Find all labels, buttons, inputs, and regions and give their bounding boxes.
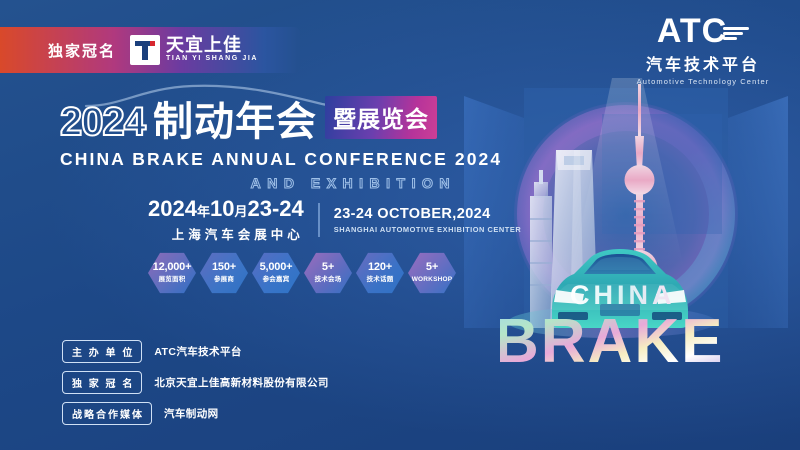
- title-block: 2024 制动年会 暨展览会 CHINA BRAKE ANNUAL CONFER…: [60, 96, 460, 191]
- credit-row: 战略合作媒体 汽车制动网: [62, 402, 329, 425]
- headline-brake: BRAKE: [500, 307, 724, 376]
- credit-row: 主 办 单 位 ATC汽车技术平台: [62, 340, 329, 363]
- date-cn-days: 23-24: [247, 196, 303, 221]
- sponsor-bar: 独家冠名 天宜上佳 TIAN YI SHANG JIA: [0, 27, 300, 73]
- credit-value: 汽车制动网: [164, 406, 219, 421]
- stat-value: 150+: [212, 262, 236, 274]
- title-english-line1: CHINA BRAKE ANNUAL CONFERENCE 2024: [60, 149, 460, 170]
- credit-value: ATC汽车技术平台: [154, 344, 241, 359]
- atc-logo: ATC 汽车技术平台 Automotive Technology Center: [628, 14, 778, 86]
- stat-value: 12,000+: [153, 262, 192, 274]
- tianyishangjia-name-cn: 天宜上佳: [166, 36, 258, 55]
- credit-tag: 独 家 冠 名: [62, 371, 142, 394]
- stat-value: 120+: [368, 262, 392, 274]
- stat-badge: 5+ 技术会场: [304, 252, 352, 294]
- stat-badge: 120+ 技术话题: [356, 252, 404, 294]
- headline-china: CHINA: [570, 282, 676, 310]
- stat-badge: 5+ WORKSHOP: [408, 252, 456, 294]
- stat-badge: 12,000+ 展览面积: [148, 252, 196, 294]
- date-divider: [318, 203, 320, 237]
- stats-row: 12,000+ 展览面积 150+ 参展商 5,000+ 参会嘉宾 5+ 技术会…: [148, 252, 456, 294]
- title-english-line2: AND EXHIBITION: [60, 175, 460, 191]
- venue-cn: 上海汽车会展中心: [148, 224, 304, 243]
- date-cn-month: 10: [210, 196, 234, 221]
- stat-badge: 150+ 参展商: [200, 252, 248, 294]
- credit-row: 独 家 冠 名 北京天宜上佳高新材料股份有限公司: [62, 371, 329, 394]
- stat-label: 技术话题: [367, 276, 394, 284]
- stat-badge: 5,000+ 参会嘉宾: [252, 252, 300, 294]
- stat-label: WORKSHOP: [412, 276, 453, 284]
- title-chinese: 制动年会: [153, 103, 317, 141]
- atc-swoosh-icon: [723, 27, 749, 40]
- credit-tag: 主 办 单 位: [62, 340, 142, 363]
- date-venue-block: 2024年10月23-24 上海汽车会展中心 23-24 OCTOBER,202…: [148, 197, 521, 243]
- tianyishangjia-name-en: TIAN YI SHANG JIA: [166, 55, 258, 63]
- credit-value: 北京天宜上佳高新材料股份有限公司: [154, 375, 328, 390]
- date-venue-cn: 2024年10月23-24 上海汽车会展中心: [148, 197, 304, 243]
- stat-value: 5+: [426, 262, 438, 274]
- atc-wordmark: ATC: [657, 14, 727, 48]
- atc-name-en: Automotive Technology Center: [637, 77, 770, 86]
- credits-block: 主 办 单 位 ATC汽车技术平台 独 家 冠 名 北京天宜上佳高新材料股份有限…: [62, 340, 329, 425]
- stat-value: 5+: [322, 262, 334, 274]
- stat-label: 参会嘉宾: [263, 276, 290, 284]
- event-poster: CHINA BRAKE 独家冠名 天宜上佳 TIAN YI SHANG JIA …: [0, 0, 800, 450]
- date-cn-month-unit: 月: [234, 204, 247, 219]
- stat-label: 参展商: [214, 276, 234, 284]
- atc-name-cn: 汽车技术平台: [646, 51, 760, 75]
- title-exhibition-badge: 暨展览会: [325, 96, 437, 139]
- date-cn-line: 2024年10月23-24: [148, 197, 304, 221]
- tianyishangjia-logo: 天宜上佳 TIAN YI SHANG JIA: [130, 35, 258, 65]
- stat-value: 5,000+: [260, 262, 293, 274]
- date-cn-year-unit: 年: [197, 204, 210, 219]
- stat-label: 展览面积: [159, 276, 186, 284]
- date-venue-en: 23-24 OCTOBER,2024 SHANGHAI AUTOMOTIVE E…: [334, 206, 521, 234]
- stat-label: 技术会场: [315, 276, 342, 284]
- china-brake-headline: CHINA BRAKE: [500, 282, 800, 392]
- date-en: 23-24 OCTOBER,2024: [334, 206, 521, 222]
- sponsor-label: 独家冠名: [48, 40, 116, 61]
- tianyishangjia-mark-icon: [130, 35, 160, 65]
- date-cn-year: 2024: [148, 196, 197, 221]
- venue-en: SHANGHAI AUTOMOTIVE EXHIBITION CENTER: [334, 225, 521, 234]
- title-year: 2024: [60, 103, 145, 141]
- credit-tag: 战略合作媒体: [62, 402, 152, 425]
